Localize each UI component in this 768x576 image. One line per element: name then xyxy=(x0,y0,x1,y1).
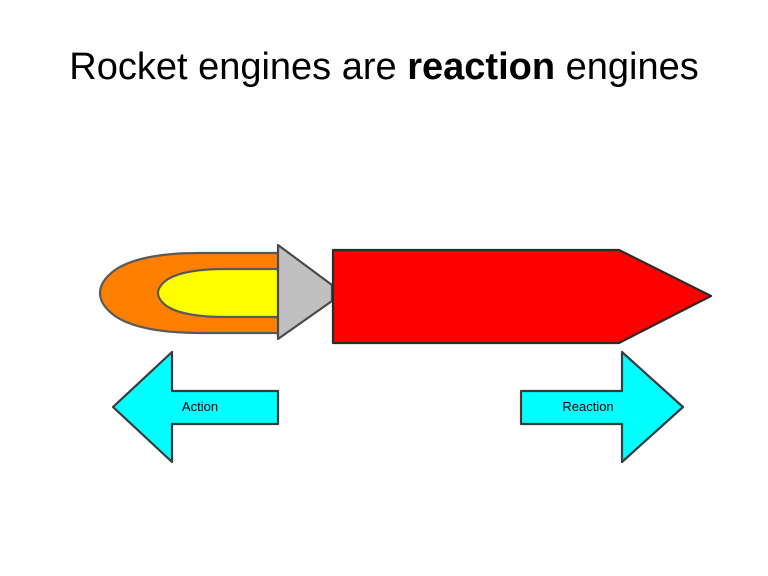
exhaust-flame-inner-icon xyxy=(158,269,279,317)
rocket-nozzle-icon xyxy=(278,245,332,339)
reaction-arrow[interactable] xyxy=(521,352,683,462)
action-arrow[interactable] xyxy=(113,352,278,462)
rocket-body-icon xyxy=(333,250,711,343)
slide-canvas: Rocket engines are reaction engines Acti… xyxy=(0,0,768,576)
rocket-action-reaction-diagram xyxy=(0,0,768,576)
